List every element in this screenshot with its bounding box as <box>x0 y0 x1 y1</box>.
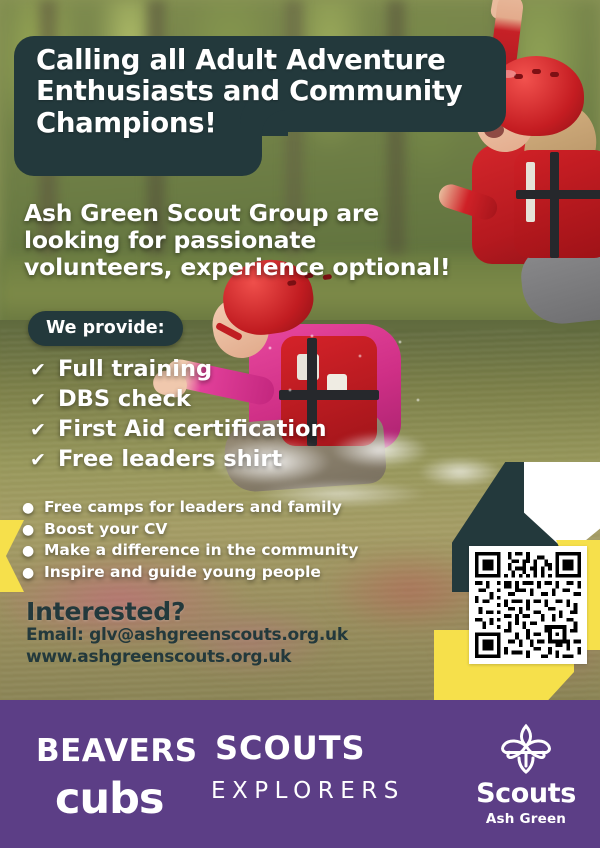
benefits-list-item-label: Free camps for leaders and family <box>44 497 342 519</box>
headline-bubble: Calling all Adult Adventure Enthusiasts … <box>14 36 506 176</box>
contact-title: Interested? <box>26 598 446 625</box>
benefits-list-item-label: Make a difference in the community <box>44 540 358 562</box>
qr-code-icon <box>475 552 581 658</box>
check-icon: ✔ <box>30 358 48 383</box>
checklist-item: ✔ First Aid certification <box>30 415 450 445</box>
benefits-list: ● Free camps for leaders and family ● Bo… <box>22 497 452 583</box>
benefits-list-item: ● Free camps for leaders and family <box>22 497 452 519</box>
checklist-item-label: Free leaders shirt <box>58 445 282 475</box>
scouts-logo: SCOUTS <box>215 729 366 767</box>
checklist: ✔ Full training ✔ DBS check ✔ First Aid … <box>30 355 450 475</box>
benefits-list-item: ● Boost your CV <box>22 519 452 541</box>
ash-green-group-location: Ash Green <box>466 811 586 827</box>
ash-green-group-name: Scouts <box>466 780 586 807</box>
fleur-de-lis-icon <box>489 722 563 778</box>
check-icon: ✔ <box>30 448 48 473</box>
contact-email[interactable]: Email: glv@ashgreenscouts.org.uk <box>26 625 446 647</box>
checklist-item-label: First Aid certification <box>58 415 327 445</box>
bullet-icon: ● <box>22 521 35 540</box>
bullet-icon: ● <box>22 564 35 583</box>
benefits-list-item: ● Make a difference in the community <box>22 540 452 562</box>
benefits-list-item-label: Boost your CV <box>44 519 167 541</box>
bullet-icon: ● <box>22 499 35 518</box>
checklist-item: ✔ Free leaders shirt <box>30 445 450 475</box>
checklist-item-label: Full training <box>58 355 212 385</box>
contact-website[interactable]: www.ashgreenscouts.org.uk <box>26 647 446 669</box>
qr-code[interactable] <box>469 546 587 664</box>
checklist-item: ✔ DBS check <box>30 385 450 415</box>
we-provide-pill: We provide: <box>28 311 183 346</box>
explorers-logo: EXPLORERS <box>211 778 405 804</box>
beavers-logo: BEAVERS <box>36 733 198 769</box>
bullet-icon: ● <box>22 542 35 561</box>
subheading-text: Ash Green Scout Group are looking for pa… <box>24 200 454 281</box>
headline-text: Calling all Adult Adventure Enthusiasts … <box>36 45 504 139</box>
check-icon: ✔ <box>30 418 48 443</box>
checklist-item: ✔ Full training <box>30 355 450 385</box>
check-icon: ✔ <box>30 388 48 413</box>
volunteer-recruitment-poster: Calling all Adult Adventure Enthusiasts … <box>0 0 600 848</box>
benefits-list-item: ● Inspire and guide young people <box>22 562 452 584</box>
footer-bar: BEAVERS cubs SCOUTS EXPLORERS Scouts Ash <box>0 700 600 848</box>
cubs-logo: cubs <box>55 774 163 824</box>
ash-green-scouts-logo: Scouts Ash Green <box>466 722 586 827</box>
contact-block: Interested? Email: glv@ashgreenscouts.or… <box>26 598 446 668</box>
checklist-item-label: DBS check <box>58 385 191 415</box>
benefits-list-item-label: Inspire and guide young people <box>44 562 321 584</box>
